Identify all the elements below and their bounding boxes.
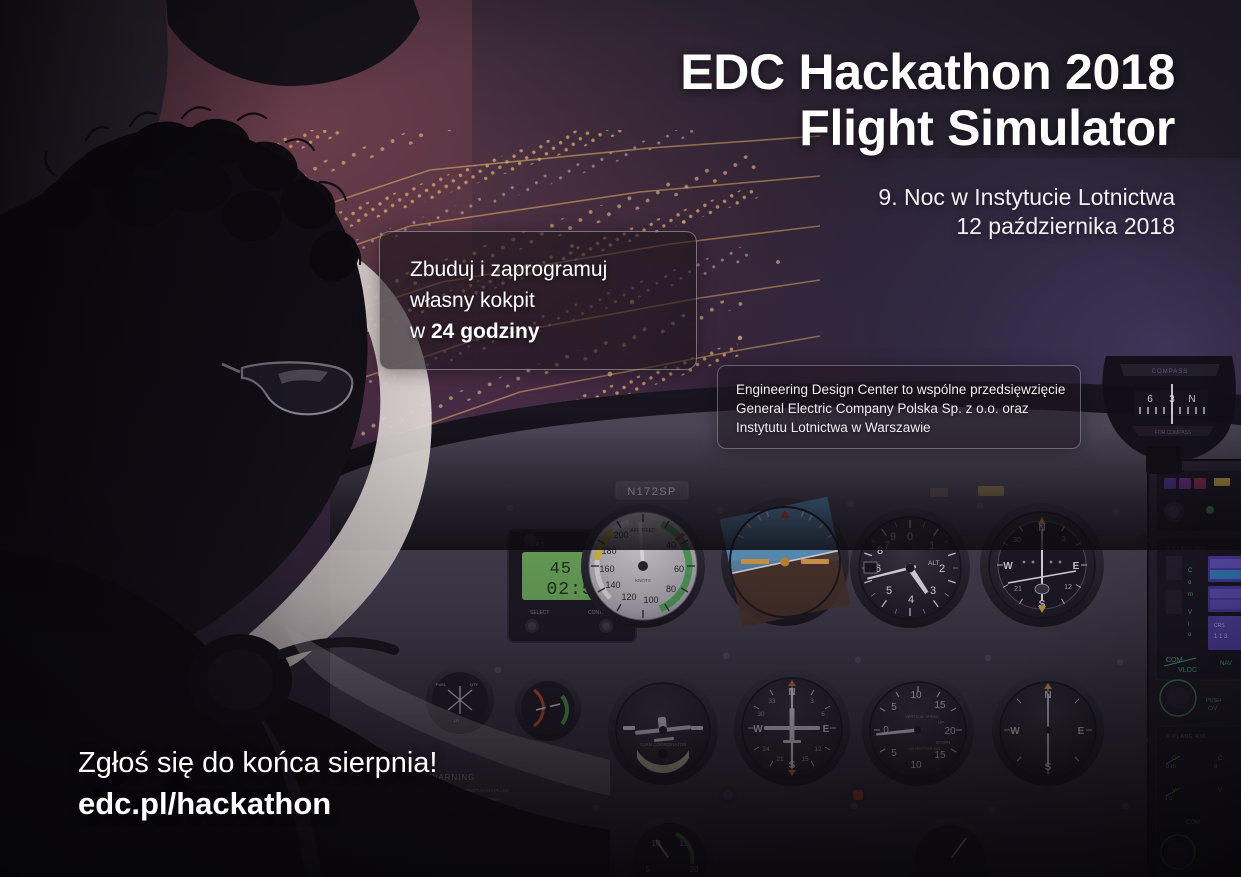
text-layer: EDC Hackathon 2018 Flight Simulator 9. N… [0,0,1241,877]
cta-url[interactable]: edc.pl/hackathon [78,783,437,825]
poster-canvas: N172SP 45 F 02:51 O.A.T. VOLTS SELECT CO… [0,0,1241,877]
call-to-action: Zgłoś się do końca sierpnia! edc.pl/hack… [78,743,437,825]
subtitle-date: 12 października 2018 [878,212,1175,241]
poster-subtitle: 9. Noc w Instytucie Lotnictwa 12 paździe… [878,183,1175,241]
poster-title: EDC Hackathon 2018 Flight Simulator [680,44,1175,156]
callout-edc-description: Engineering Design Center to wspólne prz… [717,365,1081,449]
callout-line-3: w 24 godziny [410,316,696,347]
edc-line-3: Instytutu Lotnictwa w Warszawie [736,418,1080,437]
cta-deadline-text: Zgłoś się do końca sierpnia! [78,743,437,783]
title-line-2: Flight Simulator [680,100,1175,156]
edc-line-1: Engineering Design Center to wspólne prz… [736,380,1080,399]
title-line-1: EDC Hackathon 2018 [680,44,1175,100]
callout-line-3-prefix: w [410,320,431,343]
edc-line-2: General Electric Company Polska Sp. z o.… [736,399,1080,418]
callout-line-1: Zbuduj i zaprogramuj [410,254,696,285]
callout-main-message: Zbuduj i zaprogramuj własny kokpit w 24 … [379,231,697,370]
callout-line-3-emphasis: 24 godziny [431,320,540,343]
callout-line-2: własny kokpit [410,285,696,316]
subtitle-event: 9. Noc w Instytucie Lotnictwa [878,183,1175,212]
